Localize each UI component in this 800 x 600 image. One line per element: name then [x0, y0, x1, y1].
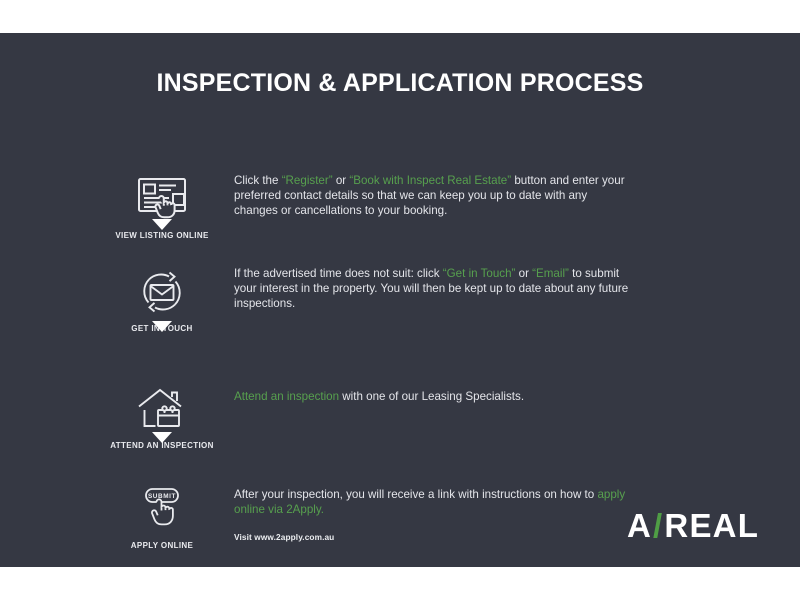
page-title: INSPECTION & APPLICATION PROCESS: [0, 69, 800, 98]
step-3-text-0: Attend an inspection: [234, 390, 339, 403]
step-1-text-3: “Book with Inspect Real Estate”: [349, 174, 511, 187]
step-4-label: APPLY ONLINE: [88, 541, 236, 550]
logo-slash-icon: /: [653, 507, 663, 545]
apply-online-icon: SUBMIT: [88, 483, 236, 535]
step-3-text-1: with one of our Leasing Specialists.: [339, 390, 524, 403]
step-3-body: Attend an inspection with one of our Lea…: [234, 389, 634, 404]
step-2-text-3: “Email”: [532, 267, 569, 280]
slide-panel: INSPECTION & APPLICATION PROCESS: [0, 33, 800, 567]
logo-lead-letter: A: [627, 507, 652, 545]
step-4-body: After your inspection, you will receive …: [234, 487, 634, 546]
visit-url-line: Visit www.2apply.com.au: [234, 530, 634, 545]
view-listing-online-icon: [88, 173, 236, 225]
step-4-icon-column: SUBMIT APPLY ONLINE: [88, 483, 236, 550]
step-2-text-0: If the advertised time does not suit: cl…: [234, 267, 443, 280]
step-2-text-1: “Get in Touch”: [443, 267, 516, 280]
submit-button-label: SUBMIT: [148, 493, 176, 500]
step-1-text-2: or: [333, 174, 350, 187]
step-1-body: Click the “Register” or “Book with Inspe…: [234, 173, 634, 219]
step-1-text-1: “Register”: [282, 174, 333, 187]
get-in-touch-icon: [88, 266, 236, 318]
step-4-text-0: After your inspection, you will receive …: [234, 488, 597, 501]
step-2-body: If the advertised time does not suit: cl…: [234, 266, 634, 312]
step-2-text-2: or: [515, 267, 532, 280]
brand-logo: A / REAL: [627, 507, 759, 545]
step-attend-an-inspection: ATTEND AN INSPECTION Attend an inspectio…: [0, 383, 800, 398]
attend-an-inspection-icon: [88, 383, 236, 435]
step-1-label: VIEW LISTING ONLINE: [88, 231, 236, 240]
logo-tail-text: REAL: [664, 507, 759, 545]
step-1-text-0: Click the: [234, 174, 282, 187]
